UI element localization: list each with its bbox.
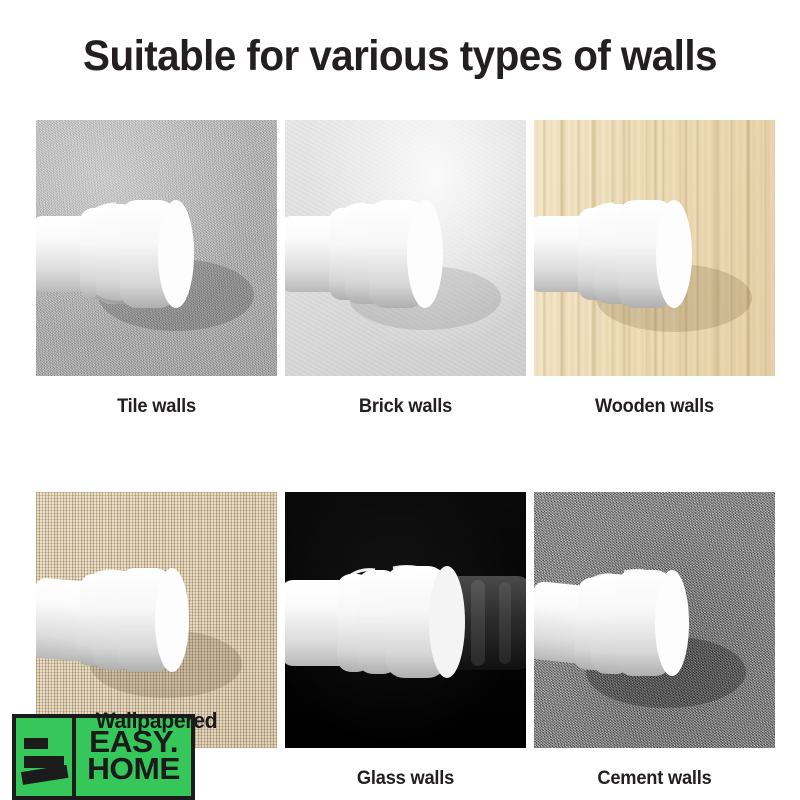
product-photo-wooden (534, 120, 775, 376)
page-title: Suitable for various types of walls (24, 32, 776, 81)
grid-row: Wallpapered (36, 492, 765, 790)
tension-rod-illustration (534, 120, 775, 376)
wall-type-cell-wooden: Wooden walls (534, 120, 775, 418)
wall-type-cell-cement: Cement walls (534, 492, 775, 790)
tension-rod-illustration (36, 120, 277, 376)
tension-rod-illustration (534, 492, 775, 748)
product-photo-glass (285, 492, 526, 748)
wall-type-caption: Wooden walls (539, 396, 770, 418)
tension-rod-illustration (285, 492, 526, 748)
wall-type-caption: Brick walls (290, 396, 521, 418)
brand-logo-line-2: HOME (87, 756, 180, 783)
wall-type-caption: Tile walls (41, 396, 272, 418)
wall-type-caption: Glass walls (290, 768, 521, 790)
wall-type-cell-tile: Tile walls (36, 120, 277, 418)
wall-type-cell-wallpapered: Wallpapered (36, 492, 277, 790)
wall-type-cell-brick: Brick walls (285, 120, 526, 418)
wall-type-caption: Cement walls (539, 768, 770, 790)
product-photo-wallpapered: Wallpapered (36, 492, 277, 748)
wall-type-cell-glass: Glass walls (285, 492, 526, 790)
wall-type-caption-overlay: Wallpapered (41, 708, 272, 734)
grid-row: Tile walls Brick walls (36, 120, 765, 418)
tension-rod-illustration (285, 120, 526, 376)
product-photo-brick (285, 120, 526, 376)
wall-types-grid: Tile walls Brick walls (36, 120, 765, 790)
product-photo-tile (36, 120, 277, 376)
product-photo-cement (534, 492, 775, 748)
